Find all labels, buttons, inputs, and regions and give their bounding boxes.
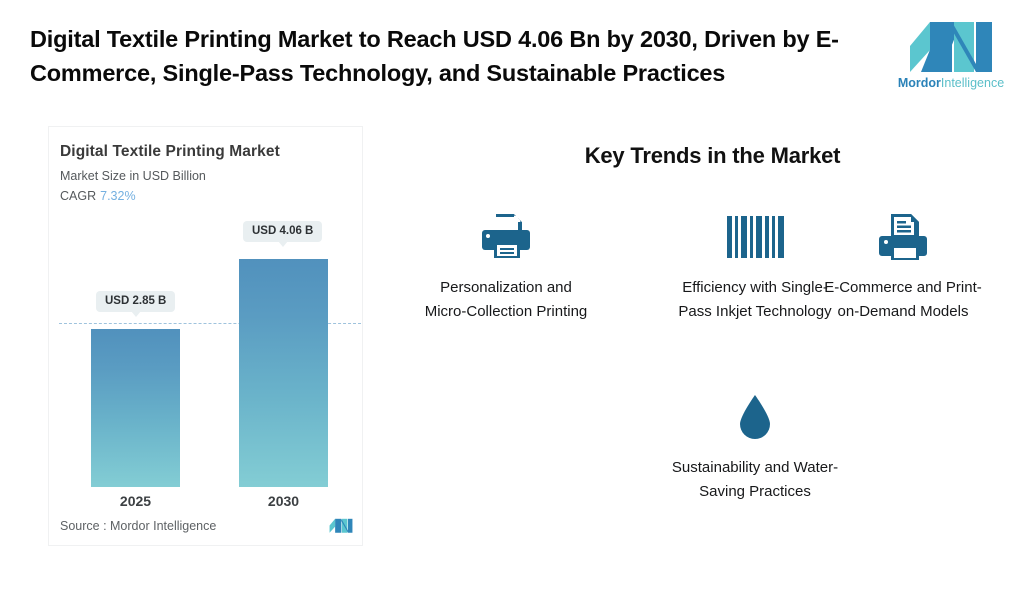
x-axis-tick-2025: 2025 (91, 493, 180, 509)
chart-source-text: Source : Mordor Intelligence (60, 519, 216, 533)
bar-value-label-2030: USD 4.06 B (243, 221, 322, 242)
market-size-chart-card: Digital Textile Printing Market Market S… (48, 126, 363, 546)
trend-label: Efficiency with Single-Pass Inkjet Techn… (671, 276, 839, 324)
trend-item-sustainability: Sustainability and Water-Saving Practice… (671, 388, 839, 504)
cagr-value: 7.32% (100, 189, 135, 203)
bar-chart-plot: USD 2.85 B USD 4.06 B 2025 2030 (49, 219, 362, 509)
trend-label: Personalization and Micro-Collection Pri… (422, 276, 590, 324)
source-logo-icon (329, 517, 353, 534)
bar-2025 (91, 329, 180, 487)
chart-source-row: Source : Mordor Intelligence (60, 519, 353, 539)
barcode-icon (671, 208, 839, 266)
water-drop-icon (671, 388, 839, 446)
page-header: Digital Textile Printing Market to Reach… (0, 0, 1035, 112)
logo-mark-icon (908, 20, 994, 72)
trend-item-single-pass: Efficiency with Single-Pass Inkjet Techn… (671, 208, 839, 324)
chart-title: Digital Textile Printing Market (60, 143, 280, 161)
page-title: Digital Textile Printing Market to Reach… (30, 22, 875, 90)
printer-document-icon (819, 208, 987, 266)
bar-2030 (239, 259, 328, 487)
bar-value-label-2025: USD 2.85 B (96, 291, 175, 312)
trend-label: Sustainability and Water-Saving Practice… (671, 456, 839, 504)
trend-label: E-Commerce and Print-on-Demand Models (819, 276, 987, 324)
trend-item-ecommerce: E-Commerce and Print-on-Demand Models (819, 208, 987, 324)
printer-icon (422, 208, 590, 266)
chart-subtitle: Market Size in USD Billion (60, 169, 206, 183)
mordor-intelligence-logo: MordorIntelligence (897, 20, 1005, 94)
trend-item-personalization: Personalization and Micro-Collection Pri… (422, 208, 590, 324)
cagr-label: CAGR (60, 189, 96, 203)
logo-word-secondary: Intelligence (941, 76, 1004, 90)
logo-wordmark: MordorIntelligence (897, 76, 1005, 90)
x-axis-tick-2030: 2030 (239, 493, 328, 509)
cagr-row: CAGR7.32% (60, 189, 136, 203)
key-trends-heading: Key Trends in the Market (400, 143, 1025, 169)
key-trends-panel: Key Trends in the Market Personalization… (400, 126, 1025, 576)
logo-word-primary: Mordor (898, 76, 941, 90)
